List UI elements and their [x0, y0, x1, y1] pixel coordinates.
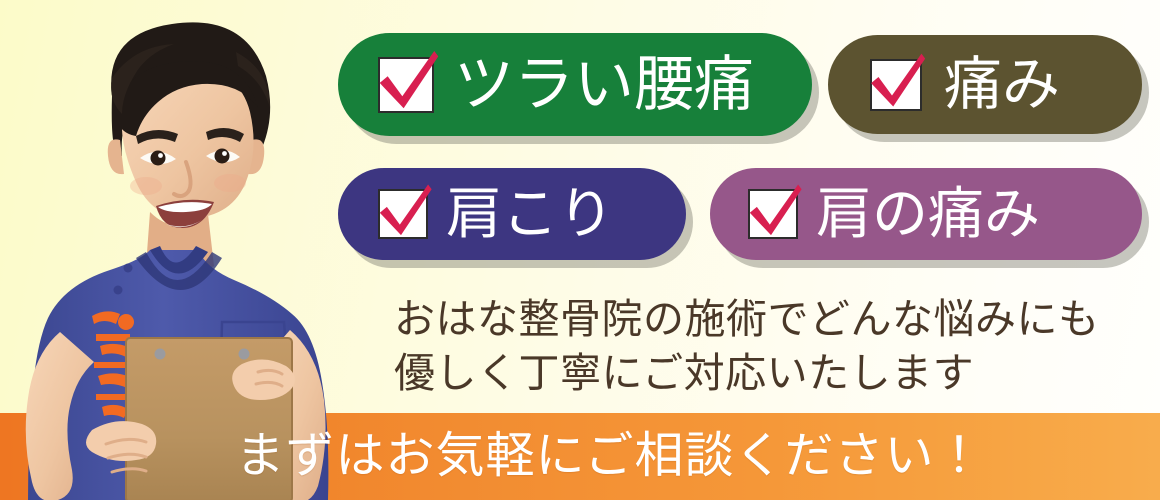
symptom-pill-katakori[interactable]: 肩こり — [338, 168, 686, 260]
symptom-pill-label: 肩の痛み — [816, 186, 1040, 242]
symptom-pill-kata-no-itami[interactable]: 肩の痛み — [710, 168, 1142, 260]
clinic-logo-mark — [92, 311, 134, 418]
symptom-pill-itami[interactable]: 痛み — [828, 35, 1142, 134]
body-copy-line-2: 優しく丁寧にご対応いたします — [394, 346, 1100, 400]
body-copy-line-1: おはな整骨院の施術でどんな悩みにも — [394, 292, 1100, 346]
checkbox-checked-icon[interactable] — [378, 57, 434, 113]
symptom-pill-tsurai-youtsuu[interactable]: ツラい腰痛 — [338, 33, 812, 136]
symptom-pill-label: 肩こり — [446, 186, 614, 242]
promo-banner: ツラい腰痛 痛み 肩こり 肩の痛み おはな整骨院の施術でどんな悩みにも 優しく丁… — [0, 0, 1160, 500]
symptom-pill-label: ツラい腰痛 — [454, 55, 754, 115]
symptom-pill-label: 痛み — [944, 56, 1060, 114]
checkbox-checked-icon[interactable] — [748, 189, 798, 239]
checkbox-checked-icon[interactable] — [378, 189, 428, 239]
checkbox-checked-icon[interactable] — [870, 59, 922, 111]
cta-text[interactable]: まずはお気軽にご相談ください！ — [0, 413, 1160, 500]
body-copy: おはな整骨院の施術でどんな悩みにも 優しく丁寧にご対応いたします — [394, 292, 1100, 400]
